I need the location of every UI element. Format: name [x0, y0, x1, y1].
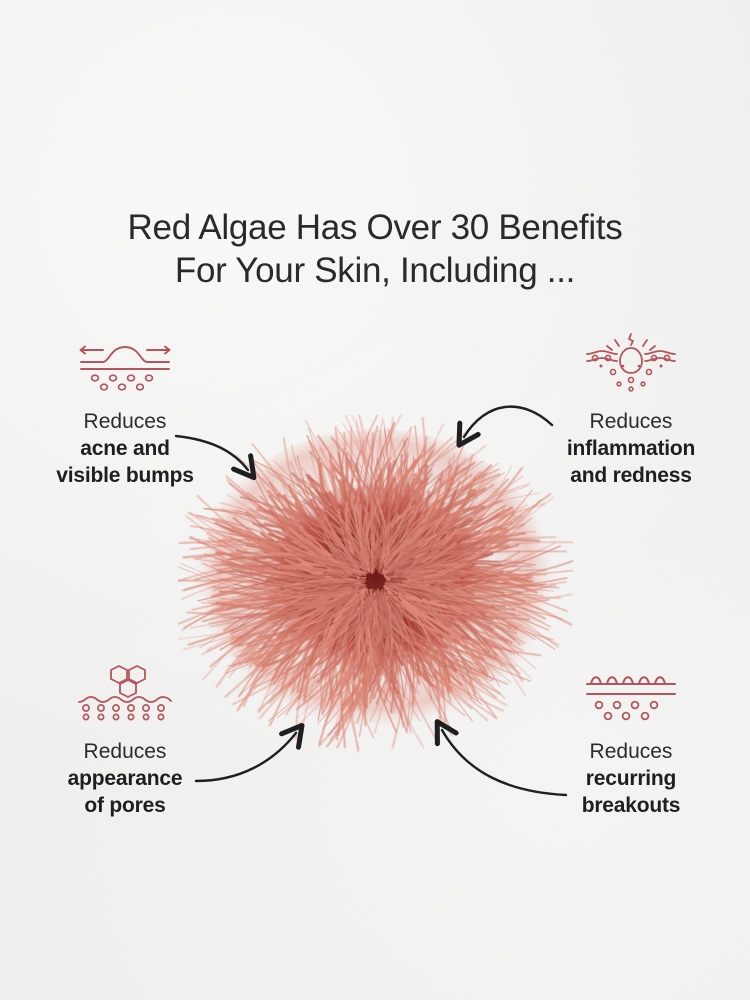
benefit-acne-line1: acne and [10, 435, 240, 462]
title-line-2: For Your Skin, Including ... [0, 249, 750, 292]
icon-wrap-acne [10, 334, 240, 394]
poster-canvas: Red Algae Has Over 30 Benefits For Your … [0, 0, 750, 1000]
benefit-pores-line2: of pores [10, 792, 240, 819]
benefit-inflammation-line2: and redness [516, 462, 746, 489]
icon-wrap-pores [10, 664, 240, 724]
benefit-inflammation: Reduces inflammation and redness [516, 334, 746, 489]
benefit-acne-line2: visible bumps [10, 462, 240, 489]
benefit-pores: Reduces appearance of pores [10, 664, 240, 819]
benefit-pores-lead: Reduces [10, 738, 240, 765]
page-title: Red Algae Has Over 30 Benefits For Your … [0, 206, 750, 292]
benefit-acne: Reduces acne and visible bumps [10, 334, 240, 489]
benefit-inflammation-line1: inflammation [516, 435, 746, 462]
benefit-inflammation-lead: Reduces [516, 408, 746, 435]
inflamed-pore-icon [579, 332, 683, 394]
title-line-1: Red Algae Has Over 30 Benefits [0, 206, 750, 249]
honeycomb-pores-icon [73, 664, 177, 724]
benefit-breakouts-line2: breakouts [516, 792, 746, 819]
icon-wrap-inflammation [516, 334, 746, 394]
icon-wrap-breakouts [516, 664, 746, 724]
benefit-breakouts-line1: recurring [516, 765, 746, 792]
benefit-acne-lead: Reduces [10, 408, 240, 435]
benefit-breakouts-lead: Reduces [516, 738, 746, 765]
skin-bump-arrows-icon [73, 336, 177, 394]
benefit-pores-line1: appearance [10, 765, 240, 792]
breakout-bumps-icon [579, 666, 683, 724]
benefit-breakouts: Reduces recurring breakouts [516, 664, 746, 819]
